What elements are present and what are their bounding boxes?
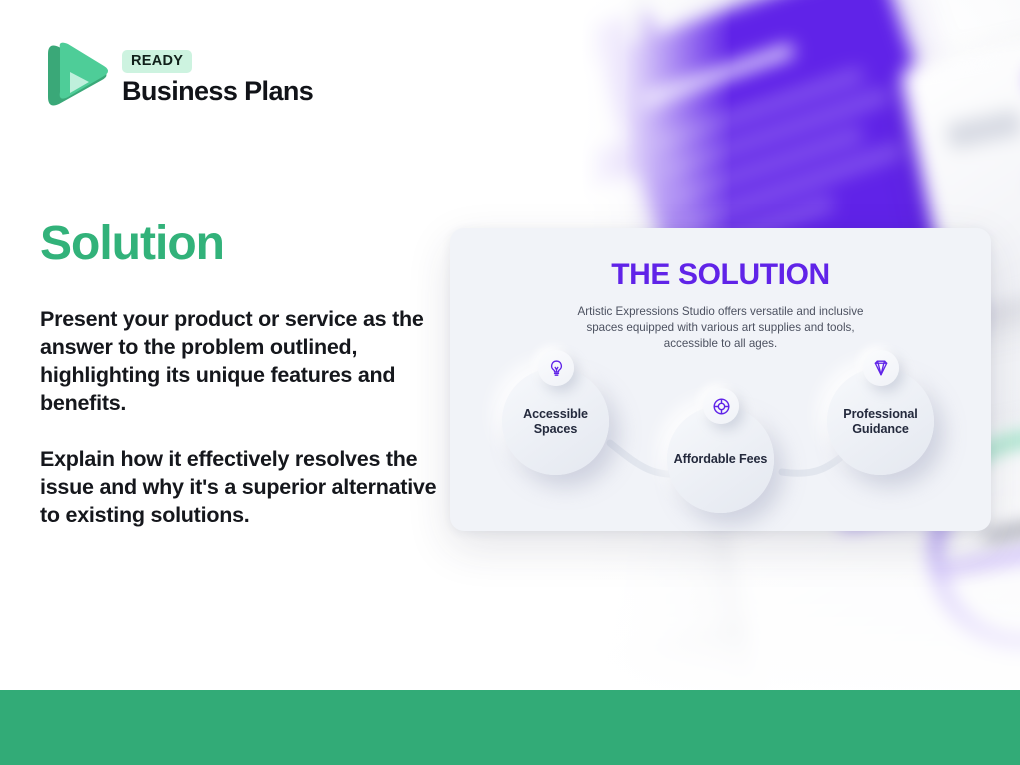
body-paragraph-2: Explain how it effectively resolves the …	[40, 445, 440, 529]
slide-canvas: READY Business Plans Solution Present yo…	[0, 0, 1020, 765]
solution-node-affordable-fees[interactable]: Affordable Fees	[667, 406, 774, 513]
footer-bar	[0, 690, 1020, 765]
body-paragraph-1: Present your product or service as the a…	[40, 305, 440, 417]
brand-lockup[interactable]: READY Business Plans	[40, 38, 313, 116]
solution-card-title: THE SOLUTION	[450, 258, 991, 292]
brand-title: Business Plans	[122, 76, 313, 107]
solution-node-accessible-spaces[interactable]: Accessible Spaces	[502, 368, 609, 475]
ready-badge: READY	[122, 50, 192, 73]
play-triangle-logo-icon	[40, 38, 108, 116]
node-label: Affordable Fees	[674, 452, 768, 467]
page-title: Solution	[40, 216, 224, 271]
body-copy: Present your product or service as the a…	[40, 305, 440, 529]
lightbulb-icon	[538, 350, 574, 386]
diamond-icon	[863, 350, 899, 386]
brand-text: READY Business Plans	[122, 48, 313, 107]
lifebuoy-icon	[703, 388, 739, 424]
solution-node-professional-guidance[interactable]: Professional Guidance	[827, 368, 934, 475]
node-label: Accessible Spaces	[502, 407, 609, 437]
solution-card-subtitle: Artistic Expressions Studio offers versa…	[571, 304, 871, 352]
node-label: Professional Guidance	[827, 407, 934, 437]
